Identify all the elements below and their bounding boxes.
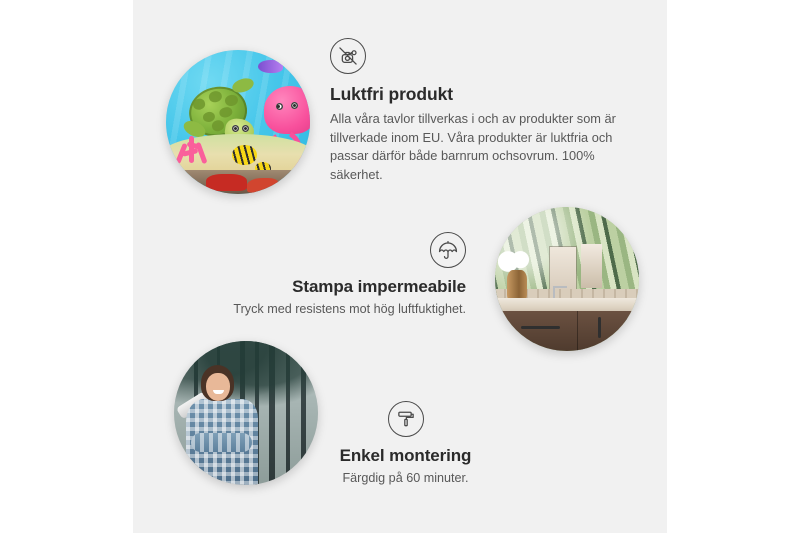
paint-roller-icon [388,401,424,437]
feature-easy-install: Enkel montering Färgdig på 60 minuter. [283,401,528,487]
feature-odourless: Luktfri produkt Alla våra tavlor tillver… [330,38,626,184]
feature-description: Färgdig på 60 minuter. [283,469,528,487]
feature-title: Enkel montering [283,446,528,466]
feature-description: Tryck med resistens mot hög luftfuktighe… [196,300,466,318]
feature-waterproof: Stampa impermeabile Tryck med resistens … [196,232,466,318]
no-smell-perfume-icon [330,38,366,74]
photo-underwater [166,50,310,194]
feature-title: Luktfri produkt [330,84,626,105]
umbrella-icon [430,232,466,268]
feature-description: Alla våra tavlor tillverkas i och av pro… [330,110,626,184]
product-feature-banner: Luktfri produkt Alla våra tavlor tillver… [0,0,800,533]
feature-title: Stampa impermeabile [196,277,466,297]
photo-bathroom [495,207,639,351]
